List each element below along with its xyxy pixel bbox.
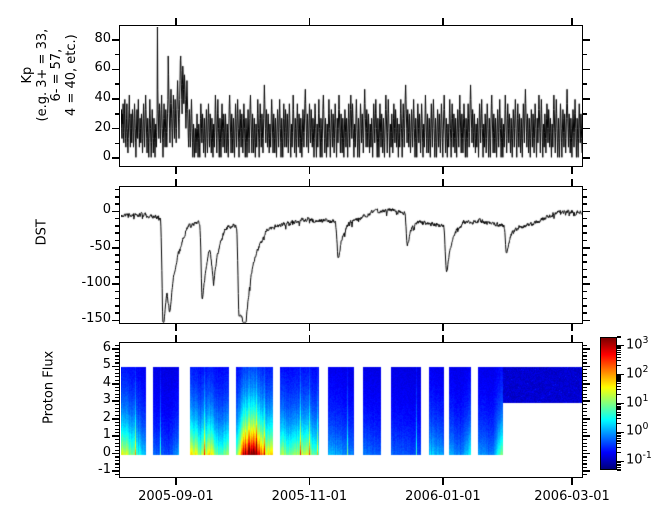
tick-mark	[115, 83, 120, 85]
tick-mark	[582, 345, 587, 346]
tick-mark	[115, 387, 120, 388]
dst-axis-label: DST	[13, 225, 73, 285]
tick-mark	[115, 54, 120, 56]
tick-mark	[115, 450, 120, 451]
tick-mark	[582, 397, 587, 398]
tick-mark	[115, 305, 120, 307]
tick-mark	[115, 359, 120, 360]
axis-tick-label: -150	[61, 311, 111, 326]
tick-mark	[582, 298, 587, 300]
tick-mark	[617, 389, 621, 390]
colorbar-tick-label: 100	[626, 421, 649, 438]
tick-mark	[582, 369, 587, 370]
tick-mark	[617, 469, 621, 470]
tick-mark	[582, 196, 587, 198]
tick-mark	[582, 460, 587, 461]
tick-mark	[112, 157, 120, 159]
tick-mark	[175, 477, 177, 485]
tick-mark	[309, 477, 311, 485]
axis-tick-label: 2005-09-01	[128, 489, 224, 504]
tick-mark	[582, 446, 587, 447]
tick-mark	[582, 415, 587, 416]
tick-mark	[175, 323, 177, 331]
tick-mark	[582, 394, 587, 395]
tick-mark	[582, 69, 590, 71]
tick-mark	[115, 254, 120, 256]
tick-mark	[617, 433, 621, 434]
axis-tick-label: 0	[61, 202, 111, 217]
tick-mark	[582, 429, 587, 430]
tick-mark	[582, 189, 587, 191]
tick-mark	[112, 400, 120, 402]
tick-mark	[582, 453, 590, 455]
tick-mark	[617, 435, 621, 436]
tick-mark	[582, 404, 587, 405]
axis-tick-label: 5	[77, 357, 111, 372]
tick-mark	[115, 369, 120, 370]
colorbar-tick-label: 103	[626, 335, 649, 352]
tick-mark	[582, 128, 590, 130]
tick-mark	[582, 348, 590, 350]
tick-mark	[115, 376, 120, 377]
tick-mark	[617, 357, 621, 358]
tick-mark	[115, 411, 120, 412]
tick-mark	[617, 375, 621, 376]
tick-mark	[582, 203, 587, 205]
tick-mark	[115, 397, 120, 398]
tick-mark	[115, 352, 120, 353]
tick-mark	[582, 422, 587, 423]
tick-mark	[617, 350, 621, 351]
tick-mark	[582, 432, 587, 433]
colorbar-tick-label: 10-1	[626, 450, 652, 467]
tick-mark	[582, 376, 587, 377]
tick-mark	[112, 283, 120, 285]
space-weather-figure: 020406080 Kp(e.g. 3+ = 33,6- = 57,4 = 40…	[0, 0, 665, 523]
tick-mark	[582, 450, 587, 451]
tick-mark	[115, 189, 120, 191]
tick-mark	[617, 467, 621, 468]
tick-mark	[617, 348, 621, 349]
tick-mark	[112, 470, 120, 472]
tick-mark	[617, 423, 621, 424]
tick-mark	[115, 429, 120, 430]
dst-series-canvas	[121, 188, 582, 323]
kp-axis-label-line-1: (e.g. 3+ = 33,	[35, 15, 50, 135]
tick-mark	[115, 439, 120, 440]
tick-mark	[115, 113, 120, 115]
kp-series-canvas	[121, 27, 582, 166]
tick-mark	[582, 98, 590, 100]
tick-mark	[112, 69, 120, 71]
tick-mark	[115, 232, 120, 234]
tick-mark	[582, 366, 590, 368]
kp-axis-label-line-0: Kp	[21, 15, 36, 135]
tick-mark	[112, 348, 120, 350]
tick-mark	[617, 383, 621, 384]
tick-mark	[582, 383, 590, 385]
tick-mark	[115, 390, 120, 391]
axis-tick-label: 2006-03-01	[524, 489, 620, 504]
tick-mark	[582, 380, 587, 381]
tick-mark	[115, 380, 120, 381]
tick-mark	[617, 377, 621, 378]
tick-mark	[617, 436, 621, 437]
tick-mark	[617, 464, 621, 465]
tick-mark	[582, 291, 587, 293]
tick-mark	[112, 383, 120, 385]
tick-mark	[617, 360, 621, 361]
tick-mark	[115, 291, 120, 293]
tick-mark	[617, 440, 621, 441]
tick-mark	[309, 335, 311, 343]
tick-mark	[582, 211, 590, 213]
tick-mark	[617, 380, 621, 381]
tick-mark	[112, 247, 120, 249]
tick-mark	[617, 462, 621, 463]
tick-mark	[115, 460, 120, 461]
colorbar-gradient	[601, 338, 616, 469]
tick-mark	[617, 414, 621, 415]
tick-mark	[617, 378, 621, 379]
tick-mark	[115, 269, 120, 271]
tick-mark	[582, 261, 587, 263]
tick-mark	[582, 240, 587, 242]
tick-mark	[115, 355, 120, 356]
tick-mark	[442, 18, 444, 26]
axis-tick-label: 0	[71, 149, 111, 164]
tick-mark	[115, 218, 120, 220]
tick-mark	[571, 323, 573, 331]
tick-mark	[571, 179, 573, 187]
tick-mark	[617, 352, 621, 353]
tick-mark	[112, 320, 120, 322]
tick-mark	[617, 407, 621, 408]
tick-mark	[582, 443, 587, 444]
colorbar-tick-label: 101	[626, 393, 649, 410]
tick-mark	[582, 411, 587, 412]
tick-mark	[582, 143, 587, 145]
tick-mark	[617, 365, 621, 366]
tick-mark	[582, 305, 587, 307]
tick-mark	[115, 463, 120, 464]
tick-mark	[571, 18, 573, 26]
tick-mark	[617, 354, 621, 355]
tick-mark	[115, 143, 120, 145]
axis-tick-label: 2006-01-01	[395, 489, 491, 504]
tick-mark	[115, 422, 120, 423]
tick-mark	[571, 166, 573, 174]
tick-mark	[582, 435, 590, 437]
tick-mark	[115, 203, 120, 205]
tick-mark	[582, 474, 587, 475]
tick-mark	[582, 359, 587, 360]
tick-mark	[582, 470, 590, 472]
tick-mark	[582, 400, 590, 402]
tick-mark	[175, 18, 177, 26]
tick-mark	[582, 113, 587, 115]
tick-mark	[112, 39, 120, 41]
tick-mark	[582, 387, 587, 388]
tick-mark	[617, 418, 621, 419]
tick-mark	[617, 409, 621, 410]
tick-mark	[571, 477, 573, 485]
tick-mark	[617, 346, 621, 347]
tick-mark	[582, 456, 587, 457]
tick-mark	[112, 453, 120, 455]
tick-mark	[582, 39, 590, 41]
tick-mark	[582, 463, 587, 464]
tick-mark	[115, 404, 120, 405]
tick-mark	[582, 225, 587, 227]
tick-mark	[617, 452, 621, 453]
tick-mark	[115, 298, 120, 300]
tick-mark	[582, 439, 587, 440]
tick-mark	[115, 196, 120, 198]
tick-mark	[582, 283, 590, 285]
proton-flux-heatmap-canvas	[121, 344, 582, 477]
tick-mark	[115, 432, 120, 433]
tick-mark	[582, 269, 587, 271]
axis-tick-label: 0	[77, 445, 111, 460]
tick-mark	[115, 425, 120, 426]
tick-mark	[115, 373, 120, 374]
tick-mark	[175, 335, 177, 343]
tick-mark	[115, 312, 120, 314]
tick-mark	[442, 166, 444, 174]
tick-mark	[617, 404, 621, 405]
colorbar-tick-label: 102	[626, 364, 649, 381]
tick-mark	[617, 386, 621, 387]
tick-mark	[582, 355, 587, 356]
tick-mark	[115, 240, 120, 242]
tick-mark	[115, 345, 120, 346]
tick-mark	[309, 166, 311, 174]
axis-tick-label: -1	[77, 462, 111, 477]
tick-mark	[115, 408, 120, 409]
tick-mark	[617, 447, 621, 448]
tick-mark	[115, 362, 120, 363]
tick-mark	[617, 336, 621, 337]
tick-mark	[582, 276, 587, 278]
proton-flux-axis-label: Proton Flux	[5, 380, 95, 440]
tick-mark	[115, 225, 120, 227]
tick-mark	[115, 415, 120, 416]
tick-mark	[582, 390, 587, 391]
tick-mark	[582, 157, 590, 159]
tick-mark	[582, 83, 587, 85]
tick-mark	[112, 98, 120, 100]
kp-axis-label: Kp(e.g. 3+ = 33,6- = 57,4 = 40, etc.)	[0, 46, 110, 146]
tick-mark	[112, 366, 120, 368]
tick-mark	[175, 179, 177, 187]
tick-mark	[582, 425, 587, 426]
tick-mark	[309, 323, 311, 331]
tick-mark	[582, 54, 587, 56]
kp-axis-label-line-2: 6- = 57,	[50, 15, 65, 135]
tick-mark	[582, 352, 587, 353]
tick-mark	[582, 467, 587, 468]
tick-mark	[115, 261, 120, 263]
tick-mark	[309, 18, 311, 26]
tick-mark	[582, 232, 587, 234]
tick-mark	[442, 335, 444, 343]
tick-mark	[582, 362, 587, 363]
tick-mark	[617, 412, 621, 413]
tick-mark	[617, 443, 621, 444]
tick-mark	[442, 323, 444, 331]
tick-mark	[115, 456, 120, 457]
tick-mark	[582, 218, 587, 220]
axis-tick-label: 6	[77, 340, 111, 355]
tick-mark	[112, 435, 120, 437]
tick-mark	[112, 211, 120, 213]
tick-mark	[571, 335, 573, 343]
tick-mark	[582, 373, 587, 374]
tick-mark	[582, 418, 590, 420]
tick-mark	[617, 394, 621, 395]
axis-tick-label: 2005-11-01	[261, 489, 357, 504]
tick-mark	[442, 477, 444, 485]
tick-mark	[115, 394, 120, 395]
tick-mark	[582, 247, 590, 249]
tick-mark	[582, 312, 587, 314]
tick-mark	[115, 474, 120, 475]
tick-mark	[442, 179, 444, 187]
tick-mark	[112, 128, 120, 130]
kp-axis-label-line-3: 4 = 40, etc.)	[65, 15, 80, 135]
tick-mark	[617, 406, 621, 407]
tick-mark	[582, 254, 587, 256]
tick-mark	[617, 465, 621, 466]
tick-mark	[115, 467, 120, 468]
tick-mark	[617, 438, 621, 439]
tick-mark	[175, 166, 177, 174]
tick-mark	[115, 443, 120, 444]
tick-mark	[115, 446, 120, 447]
tick-mark	[309, 179, 311, 187]
tick-mark	[115, 276, 120, 278]
tick-mark	[582, 408, 587, 409]
tick-mark	[112, 418, 120, 420]
tick-mark	[582, 320, 590, 322]
